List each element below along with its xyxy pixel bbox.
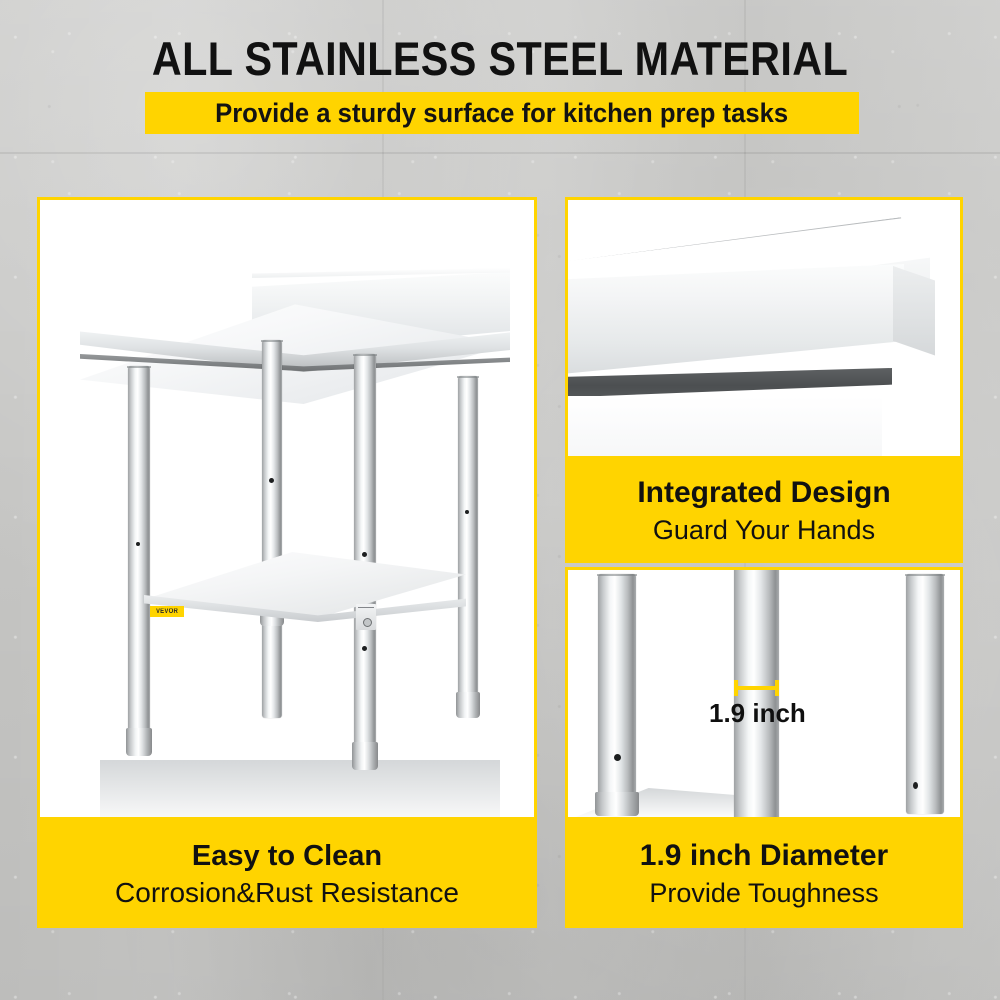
leg-adjustment-hole xyxy=(269,478,274,483)
product-illustration-legs: 1.9 inch xyxy=(568,570,960,817)
subtitle-banner: Provide a sturdy surface for kitchen pre… xyxy=(145,92,859,134)
dimension-label: 1.9 inch xyxy=(709,698,806,729)
edge-seam-line xyxy=(565,217,901,262)
vevor-brand-sticker: VEVOR xyxy=(150,606,184,617)
dimension-cap-right xyxy=(775,680,779,696)
caption-heading: 1.9 inch Diameter xyxy=(640,837,888,875)
dimension-bar xyxy=(734,686,779,690)
floor-shadow xyxy=(100,760,500,820)
leg-adjustment-hole xyxy=(465,510,469,514)
caption-subheading: Guard Your Hands xyxy=(653,512,875,548)
edge-corner-return xyxy=(893,266,935,370)
edge-front-face xyxy=(565,264,904,374)
leg-left xyxy=(598,574,636,806)
dimension-cap-left xyxy=(734,680,738,696)
leg-left-foot xyxy=(595,792,639,816)
product-illustration-table: VEVOR xyxy=(40,200,534,817)
background-grout-line xyxy=(0,152,1000,154)
page-title: ALL STAINLESS STEEL MATERIAL xyxy=(60,30,940,88)
edge-lower-apron xyxy=(565,396,882,458)
caption-subheading: Corrosion&Rust Resistance xyxy=(115,875,459,911)
leg-adjustment-hole xyxy=(614,754,621,761)
caption-heading: Integrated Design xyxy=(637,474,890,512)
product-illustration-edge-detail xyxy=(568,200,960,456)
table-leg-foot xyxy=(456,692,480,718)
caption-diameter: 1.9 inch Diameter Provide Toughness xyxy=(565,820,963,928)
subtitle-text: Provide a sturdy surface for kitchen pre… xyxy=(215,98,788,129)
caption-heading: Easy to Clean xyxy=(192,837,382,875)
infographic-page: ALL STAINLESS STEEL MATERIAL Provide a s… xyxy=(0,0,1000,1000)
caption-easy-to-clean: Easy to Clean Corrosion&Rust Resistance xyxy=(37,820,537,928)
product-image-panel-edge xyxy=(565,197,963,459)
vevor-sticker-text: VEVOR xyxy=(156,608,178,615)
leg-adjustment-hole xyxy=(362,552,367,557)
product-spec-label xyxy=(356,604,376,630)
table-leg-rear-right xyxy=(458,376,478,706)
product-image-panel-main: VEVOR xyxy=(37,197,537,820)
dimension-bracket xyxy=(734,680,779,696)
caption-subheading: Provide Toughness xyxy=(649,875,878,911)
table-leg-front-left xyxy=(128,366,150,738)
product-image-panel-legs: 1.9 inch xyxy=(565,567,963,820)
leg-adjustment-hole xyxy=(913,782,918,789)
leg-adjustment-hole xyxy=(136,542,140,546)
table-leg-foot xyxy=(126,728,152,756)
leg-right xyxy=(906,574,944,814)
caption-integrated-design: Integrated Design Guard Your Hands xyxy=(565,459,963,563)
table-leg-foot xyxy=(352,742,378,770)
table-leg-rear-left xyxy=(262,340,282,718)
leg-adjustment-hole xyxy=(362,646,367,651)
